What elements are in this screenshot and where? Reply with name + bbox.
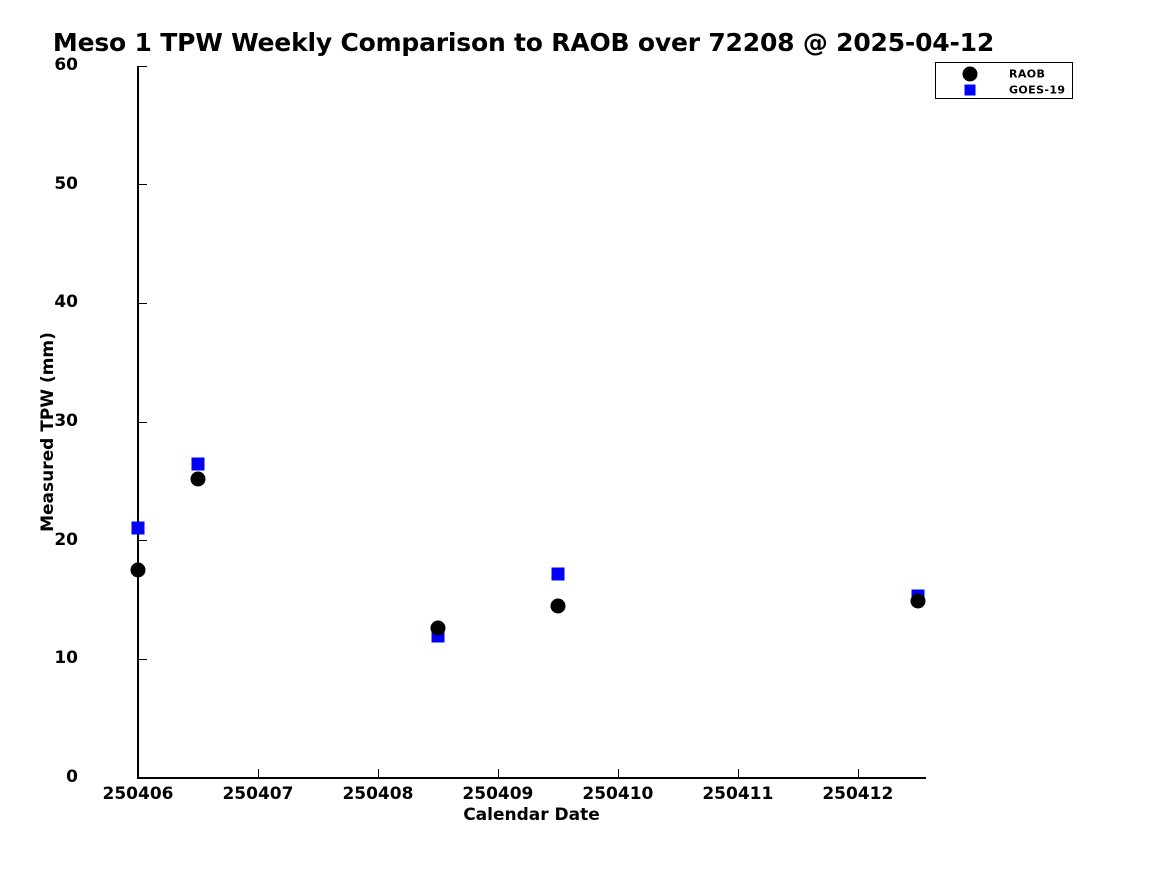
x-tick-label: 250407 [222,784,293,804]
legend-label: RAOB [1009,68,1045,81]
data-point-raob [910,594,925,609]
legend-item-goes-19: GOES-19 [936,82,1072,98]
page-title: Meso 1 TPW Weekly Comparison to RAOB ove… [0,28,1047,57]
y-tick-label: 60 [54,55,78,75]
y-axis-label: Measured TPW (mm) [38,232,58,632]
x-tick-label: 250411 [702,784,773,804]
legend-marker-square-icon [958,82,982,98]
plot-area [138,66,925,778]
x-tick-label: 250410 [582,784,653,804]
x-tick-label: 250409 [462,784,533,804]
x-tick-label: 250412 [822,784,893,804]
data-point-raob [430,621,445,636]
y-tick-label: 50 [54,174,78,194]
square-icon [965,85,976,96]
legend: RAOBGOES-19 [935,62,1073,99]
legend-label: GOES-19 [1009,84,1066,97]
data-point-raob [131,563,146,578]
x-tick-label: 250406 [103,784,174,804]
circle-icon [963,67,978,82]
y-tick-label: 10 [54,648,78,668]
data-point-goes-19 [551,567,564,580]
x-tick-label: 250408 [342,784,413,804]
x-axis-label: Calendar Date [138,805,925,825]
data-point-goes-19 [132,521,145,534]
y-tick-label: 0 [66,767,78,787]
data-point-raob [190,471,205,486]
data-point-raob [550,598,565,613]
chart-figure: Meso 1 TPW Weekly Comparison to RAOB ove… [0,0,1167,875]
legend-marker-circle-icon [958,66,982,82]
legend-item-raob: RAOB [936,66,1072,82]
data-point-goes-19 [191,457,204,470]
